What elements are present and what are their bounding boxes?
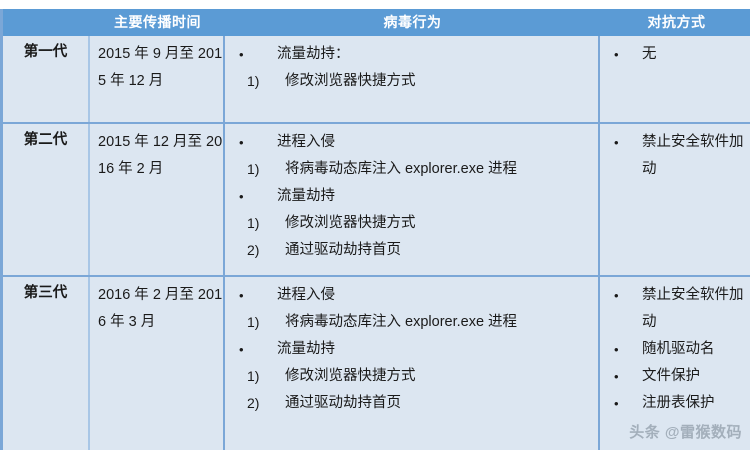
list-item: • 进程入侵 [231,129,598,156]
bullet-icon: • [231,336,277,363]
list-item-label: 随机驱动名 [642,336,750,363]
period-text: 2016 年 2 月至 2016 年 3 月 [98,282,223,336]
list-item-label: 通过驱动劫持首页 [285,390,598,417]
generation-label: 第一代 [3,41,88,63]
list-item-label: 修改浏览器快捷方式 [285,210,598,237]
number-marker: 2) [231,390,285,417]
generation-label: 第二代 [3,129,88,151]
list-item-label: 进程入侵 [277,282,598,309]
number-marker: 1) [231,68,285,95]
list-item: • 进程入侵 [231,282,598,309]
list-item: • 流量劫持： [231,41,598,68]
bullet-icon: • [606,129,642,156]
number-marker: 1) [231,210,285,237]
list-item: 2) 通过驱动劫持首页 [231,237,598,264]
bullet-icon: • [231,129,277,156]
list-item-label: 无 [642,41,750,68]
bullet-icon: • [231,183,277,210]
generation-label: 第三代 [3,282,88,304]
number-marker: 1) [231,363,285,390]
list-item-label: 通过驱动劫持首页 [285,237,598,264]
watermark: 头条 @雷猴数码 [629,421,742,442]
list-item-label: 将病毒动态库注入 explorer.exe 进程 [285,156,598,183]
list-item: • 随机驱动名 [606,336,750,363]
list-item: • 流量劫持 [231,336,598,363]
number-marker: 1) [231,309,285,336]
list-item-label: 流量劫持 [277,336,598,363]
list-item: • 禁止安全软件加动 [606,129,750,183]
period-text: 2015 年 12 月至 2016 年 2 月 [98,129,223,183]
list-item: • 禁止安全软件加动 [606,282,750,336]
bullet-icon: • [606,336,642,363]
list-item-label: 禁止安全软件加动 [642,282,750,336]
number-marker: 1) [231,156,285,183]
cell-countermeasure: • 无 [600,36,750,122]
header-spread-time: 主要传播时间 [90,9,225,36]
list-item-label: 进程入侵 [277,129,598,156]
cell-generation: 第一代 [3,36,90,122]
bullet-icon: • [231,282,277,309]
header-virus-behavior: 病毒行为 [225,9,600,36]
cell-generation: 第三代 [3,277,90,450]
bullet-icon: • [606,282,642,309]
table-row: 第一代 2015 年 9 月至 2015 年 12 月 • 流量劫持： 1) 修… [3,36,750,124]
cell-virus-behavior: • 流量劫持： 1) 修改浏览器快捷方式 [225,36,600,122]
list-item-label: 流量劫持： [277,41,598,68]
list-item: • 流量劫持 [231,183,598,210]
cell-spread-time: 2015 年 9 月至 2015 年 12 月 [90,36,225,122]
cell-virus-behavior: • 进程入侵 1) 将病毒动态库注入 explorer.exe 进程 • 流量劫… [225,124,600,275]
list-item: • 文件保护 [606,363,750,390]
bullet-icon: • [606,363,642,390]
list-item-label: 禁止安全软件加动 [642,129,750,183]
list-item: 2) 通过驱动劫持首页 [231,390,598,417]
list-item: 1) 将病毒动态库注入 explorer.exe 进程 [231,309,598,336]
header-generation [3,9,90,36]
header-countermeasure: 对抗方式 [600,9,750,36]
list-item: • 无 [606,41,750,68]
bullet-icon: • [606,390,642,417]
bullet-icon: • [231,41,277,68]
list-item: 1) 将病毒动态库注入 explorer.exe 进程 [231,156,598,183]
cell-spread-time: 2015 年 12 月至 2016 年 2 月 [90,124,225,275]
list-item: 1) 修改浏览器快捷方式 [231,210,598,237]
bullet-icon: • [606,41,642,68]
list-item: • 注册表保护 [606,390,750,417]
list-item: 1) 修改浏览器快捷方式 [231,363,598,390]
list-item-label: 将病毒动态库注入 explorer.exe 进程 [285,309,598,336]
list-item-label: 流量劫持 [277,183,598,210]
table-body: 第一代 2015 年 9 月至 2015 年 12 月 • 流量劫持： 1) 修… [3,36,750,450]
list-item: 1) 修改浏览器快捷方式 [231,68,598,95]
number-marker: 2) [231,237,285,264]
list-item-label: 修改浏览器快捷方式 [285,68,598,95]
list-item-label: 修改浏览器快捷方式 [285,363,598,390]
period-text: 2015 年 9 月至 2015 年 12 月 [98,41,223,95]
cell-generation: 第二代 [3,124,90,275]
list-item-label: 注册表保护 [642,390,750,417]
virus-generation-table: 主要传播时间 病毒行为 对抗方式 第一代 2015 年 9 月至 2015 年 … [0,9,750,450]
table-row: 第二代 2015 年 12 月至 2016 年 2 月 • 进程入侵 1) 将病… [3,124,750,277]
screenshot-root: 主要传播时间 病毒行为 对抗方式 第一代 2015 年 9 月至 2015 年 … [0,0,750,450]
cell-countermeasure: • 禁止安全软件加动 [600,124,750,275]
table-header-row: 主要传播时间 病毒行为 对抗方式 [3,9,750,36]
cell-spread-time: 2016 年 2 月至 2016 年 3 月 [90,277,225,450]
list-item-label: 文件保护 [642,363,750,390]
cell-virus-behavior: • 进程入侵 1) 将病毒动态库注入 explorer.exe 进程 • 流量劫… [225,277,600,450]
